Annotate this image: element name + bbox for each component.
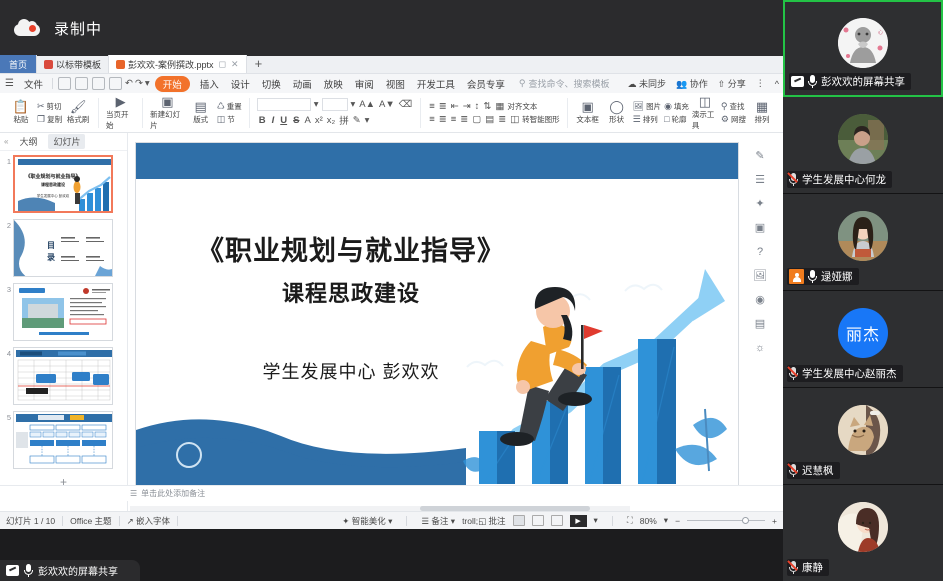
tab-screen-icon[interactable]: ◻ — [219, 59, 226, 70]
export-image-icon[interactable]: 🖼 — [754, 269, 767, 282]
comments-button[interactable]: troll;◱ 批注 — [462, 515, 505, 527]
slide-3-art — [14, 284, 113, 341]
cut-button[interactable]: ✂剪切 — [37, 101, 62, 112]
collaborate-label: 协作 — [690, 79, 708, 89]
mic-on-icon[interactable] — [24, 564, 33, 577]
increase-font-size-icon[interactable]: A▲ — [358, 99, 376, 110]
format-painter-button[interactable]: 🖌 格式刷 — [65, 100, 91, 125]
mic-muted-icon[interactable] — [789, 561, 798, 574]
divider — [612, 516, 613, 526]
slide-preview: 《职业规划与就业指导》 课程思政建设 学生发展中心 彭欢欢 — [13, 155, 113, 213]
font-embed-button[interactable]: ↗ 嵌入字体 — [127, 515, 171, 527]
participant-name: 学生发展中心赵丽杰 — [802, 366, 897, 381]
editor-work-area: « 大纲 幻灯片 1 《职业规划与就业指导》 课程思政建设 — [0, 133, 783, 529]
distribute-icon[interactable]: ▢ — [471, 114, 482, 125]
divider — [177, 516, 178, 526]
collaborate-button[interactable]: 👥 协作 — [676, 77, 708, 90]
ribbon-right-actions: ☁ 未同步 👥 协作 ⇧ 分享 ⋮ ^ — [627, 77, 779, 90]
illustration-cat-avatar — [838, 405, 888, 455]
illustration-woman-reading-avatar — [838, 211, 888, 261]
web-search-button[interactable]: ⚙网搜 — [721, 114, 746, 125]
beautify-icon[interactable]: ✦ — [754, 197, 767, 210]
ribbon-group-slides: ▣ 新建幻灯片 ▤ 版式 ♺重置 ◫节 — [146, 93, 246, 132]
screen-share-icon — [791, 76, 804, 87]
smartart-icon[interactable]: ◫ — [509, 114, 520, 125]
ribbon-tab-start[interactable]: 开始 — [155, 76, 190, 92]
notes-button[interactable]: ☰ 备注 ▾ — [421, 515, 455, 527]
cloud-service-icon[interactable]: ◉ — [754, 293, 767, 306]
undo-icon[interactable]: ↶ — [124, 78, 134, 89]
picture-button[interactable]: 🖼图片 — [633, 101, 661, 112]
format-painter-label: 格式刷 — [67, 114, 90, 125]
zoom-slider[interactable] — [687, 520, 765, 521]
align-text-icon[interactable]: ▦ — [494, 101, 505, 112]
align-label: 排列 — [643, 114, 658, 125]
notes-bar[interactable]: ☰ 单击此处添加备注 — [0, 485, 783, 501]
slide-preview: 目 录 — [13, 219, 113, 277]
copy-label: 复制 — [47, 114, 62, 125]
outline-button[interactable]: □轮廓 — [664, 114, 689, 125]
slide-canvas[interactable]: 《职业规划与就业指导》 课程思政建设 学生发展中心 彭欢欢 — [128, 133, 783, 529]
textbox-label: 文本框 — [576, 114, 599, 125]
tab-close-icon[interactable]: ✕ — [231, 59, 239, 70]
avatar — [838, 502, 888, 552]
slide-header-band — [136, 143, 738, 179]
textbox-icon: ▣ — [581, 100, 593, 113]
collapse-panel-icon[interactable]: « — [4, 137, 8, 146]
meeting-top-bar: 录制中 — [0, 0, 783, 56]
fill-label: 填充 — [674, 101, 689, 112]
slide-thumbnail-panel: « 大纲 幻灯片 1 《职业规划与就业指导》 课程思政建设 — [0, 133, 128, 529]
format-pane-icon[interactable]: ☰ — [754, 173, 767, 186]
theme-label[interactable]: Office 主题 — [70, 515, 111, 527]
font-family-select[interactable] — [257, 98, 311, 111]
ribbon-group-slideshow: ▶ 当页开始 — [102, 93, 139, 132]
svg-text:目: 目 — [47, 241, 55, 250]
slide-thumbnail-2[interactable]: 2 目 录 — [0, 219, 123, 277]
comments-label: 批注 — [489, 516, 506, 526]
feedback-icon[interactable]: ☼ — [754, 341, 767, 354]
sync-status-button[interactable]: ☁ 未同步 — [627, 77, 666, 90]
subscript-icon[interactable]: x₂ — [326, 115, 336, 126]
participant-name-bar: 逯娅娜 — [787, 268, 859, 285]
ribbon-group-clipboard: 📋 粘贴 ✂剪切 ❐复制 🖌 格式刷 — [4, 93, 95, 132]
wps-presentation-window: 首页 以标带模板 彭欢欢-案例撰改.pptx ◻ ✕ + ☰ 文件 ↶ — [0, 56, 783, 529]
arrange-label: 排列 — [755, 114, 770, 125]
tab-active-presentation[interactable]: 彭欢欢-案例撰改.pptx ◻ ✕ — [109, 55, 247, 73]
find-label: 查找 — [730, 101, 745, 112]
avatar — [838, 114, 888, 164]
right-tool-rail: ✎ ☰ ✦ ▣ ? 🖼 ◉ ▤ ☼ — [749, 133, 771, 478]
divider — [406, 516, 407, 526]
underline-button[interactable]: U — [278, 115, 289, 126]
justify-icon[interactable]: ≣ — [459, 114, 469, 125]
document-tab-strip: 首页 以标带模板 彭欢欢-案例撰改.pptx ◻ ✕ + — [0, 56, 783, 74]
ribbon-group-font: ▾ ▾ A▲ A▼ ⌫ B I U S A x² x₂ — [253, 93, 418, 132]
align-right-icon[interactable]: ≡ — [450, 114, 458, 125]
participant-tile-5[interactable]: 迟慧枫 — [783, 388, 943, 485]
ribbon-tab-developer[interactable]: 开发工具 — [411, 77, 461, 91]
participant-tile-6[interactable]: 康静 — [783, 485, 943, 581]
design-ideas-icon[interactable]: ✎ — [754, 149, 767, 162]
divider — [52, 78, 53, 89]
web-search-label: 网搜 — [731, 114, 746, 125]
slide-panel-header: « 大纲 幻灯片 — [0, 133, 127, 151]
help-icon[interactable]: ? — [754, 245, 767, 258]
play-circle-icon: ▶ — [116, 95, 126, 108]
present-tool-icon: ◫ — [699, 95, 711, 108]
paste-label: 粘贴 — [14, 114, 29, 125]
copy-icon: ❐ — [37, 114, 45, 125]
mic-on-icon[interactable] — [808, 75, 817, 88]
mic-on-icon[interactable] — [808, 270, 817, 283]
participant-tile-sharing[interactable]: 心 彭欢欢的屏幕共享 — [783, 0, 943, 97]
textbox-button[interactable]: ▣ 文本框 — [575, 100, 601, 125]
save-as-icon[interactable] — [75, 77, 88, 90]
picture-label: 图片 — [646, 101, 661, 112]
search-placeholder-label: 查找命令、搜索模板 — [528, 77, 609, 90]
zoom-level-label[interactable]: 80% — [640, 516, 657, 526]
shape-button[interactable]: ◯ 形状 — [604, 100, 630, 125]
text-direction-icon[interactable]: ⇅ — [482, 101, 492, 112]
zoom-in-button[interactable]: + — [772, 516, 777, 526]
participant-name: 迟慧枫 — [802, 463, 834, 478]
bold-button[interactable]: B — [257, 115, 268, 126]
divider — [98, 98, 99, 128]
start-from-current-label: 当页开始 — [106, 109, 135, 131]
illustration-woman-avatar — [838, 502, 888, 552]
text-highlight-icon[interactable]: ✎ — [352, 115, 362, 126]
ribbon-group-paragraph: ≡ ≣ ⇤ ⇥ ↕ ⇅ ▦ 对齐文本 ≡ ≣ ≡ ≣ ▢ — [424, 93, 563, 132]
ribbon-tab-design[interactable]: 设计 — [225, 77, 256, 91]
shape-label: 形状 — [609, 114, 624, 125]
tab-active-label: 彭欢欢-案例撰改.pptx — [128, 58, 214, 71]
ribbon-tab-view[interactable]: 视图 — [380, 77, 411, 91]
svg-text:录: 录 — [47, 253, 55, 262]
tab-slides[interactable]: 幻灯片 — [48, 134, 85, 149]
fill-icon: ◉ — [664, 101, 672, 112]
host-icon — [789, 269, 804, 284]
arrange-button[interactable]: ▦ 排列 — [749, 100, 775, 125]
share-label: 分享 — [728, 79, 746, 89]
slide-thumbnail-3[interactable]: 3 — [0, 283, 123, 341]
notes-label: 备注 — [431, 516, 448, 526]
font-embed-label: 嵌入字体 — [136, 516, 170, 526]
view-slide-sorter-button[interactable] — [532, 515, 544, 526]
cut-label: 剪切 — [47, 101, 62, 112]
sync-status-label: 未同步 — [639, 79, 666, 89]
ribbon-tab-review[interactable]: 审阅 — [349, 77, 380, 91]
new-slide-icon: ▣ — [161, 95, 173, 108]
quick-access-chevron-icon[interactable]: ▾ — [144, 78, 151, 89]
format-painter-icon: 🖌 — [70, 100, 87, 113]
fit-slide-button[interactable]: ⛶ — [627, 515, 633, 526]
divider — [420, 98, 421, 128]
paste-icon: 📋 — [13, 100, 29, 113]
present-tool-label: 演示工具 — [692, 109, 718, 131]
slide-number: 5 — [0, 411, 11, 422]
wps-doc-icon — [44, 60, 53, 69]
view-normal-button[interactable] — [513, 515, 525, 526]
font-size-chevron-icon[interactable]: ▾ — [350, 99, 357, 110]
slide-number: 1 — [0, 155, 11, 166]
screen-share-icon — [6, 565, 19, 576]
outline-icon: □ — [664, 114, 669, 124]
tab-template-label: 以标带模板 — [56, 58, 101, 71]
ribbon-tab-transition[interactable]: 切换 — [256, 77, 287, 91]
picture-icon: 🖼 — [633, 101, 644, 112]
fill-button[interactable]: ◉填充 — [664, 101, 689, 112]
status-bar: 幻灯片 1 / 10 Office 主题 ↗ 嵌入字体 ✦ 智能美化 ▾ ☰ 备… — [0, 511, 783, 529]
compare-icon[interactable]: ▤ — [754, 317, 767, 330]
align-button[interactable]: ☰排列 — [633, 114, 661, 125]
divider — [142, 98, 143, 128]
ribbon-tab-member[interactable]: 会员专享 — [461, 77, 511, 91]
ribbon-tab-insert[interactable]: 插入 — [194, 77, 225, 91]
share-pill-label: 彭欢欢的屏幕共享 — [38, 563, 118, 578]
text-shadow-icon[interactable]: A — [303, 115, 311, 126]
more-options-icon[interactable]: ⋮ — [756, 78, 765, 89]
ribbon-group-insert: ▣ 文本框 ◯ 形状 🖼图片 ☰排列 ◉填充 □轮廓 ◫ 演示工具 — [571, 93, 779, 132]
list-level-icon[interactable]: ≣ — [497, 114, 507, 125]
slide-2-art: 目 录 — [14, 220, 113, 277]
font-color-icon[interactable]: ▾ — [364, 115, 371, 126]
circle-decoration — [176, 442, 202, 468]
initials-avatar: 丽杰 — [838, 308, 888, 358]
clear-format-icon[interactable]: ⌫ — [398, 99, 413, 110]
section-button[interactable]: ◫节 — [217, 114, 242, 125]
divider — [567, 98, 568, 128]
divider — [249, 98, 250, 128]
slideshow-options-chevron-icon[interactable]: ▾ — [594, 515, 598, 526]
mic-muted-icon[interactable] — [789, 367, 798, 380]
illustration-woman-climbing-bars — [457, 249, 732, 484]
start-slideshow-button[interactable]: ▶ — [570, 515, 587, 527]
tab-outline[interactable]: 大纲 — [14, 134, 42, 149]
participant-name-bar: 康静 — [787, 559, 829, 576]
status-bar-right: ✦ 智能美化 ▾ ☰ 备注 ▾ troll;◱ 批注 ▶ ▾ ⛶ 80% ▾ −… — [342, 515, 777, 527]
slide-preview — [13, 283, 113, 341]
print-icon[interactable] — [92, 77, 105, 90]
notes-icon: ☰ — [130, 489, 137, 498]
slide-counter-label: 幻灯片 1 / 10 — [6, 515, 55, 527]
view-reading-button[interactable] — [551, 515, 563, 526]
ribbon-tab-slideshow[interactable]: 放映 — [318, 77, 349, 91]
convert-smartart-label[interactable]: 转智能图形 — [522, 114, 560, 125]
svg-text:课程思政建设: 课程思政建设 — [41, 181, 65, 187]
layout-icon: ▤ — [195, 100, 207, 113]
svg-text:心: 心 — [878, 29, 883, 36]
avatar — [838, 405, 888, 455]
zoom-slider-knob[interactable] — [742, 517, 749, 524]
increase-indent-icon[interactable]: ⇥ — [462, 101, 472, 112]
slide-preview — [13, 347, 113, 405]
participant-name-bar: 学生发展中心何龙 — [787, 171, 892, 188]
decrease-font-size-icon[interactable]: A▼ — [378, 99, 396, 110]
participant-name: 逯娅娜 — [821, 269, 853, 284]
media-icon[interactable]: ▣ — [754, 221, 767, 234]
tab-home-label: 首页 — [9, 58, 27, 71]
ribbon-tab-file[interactable]: 文件 — [18, 77, 49, 91]
print-preview-icon[interactable] — [109, 77, 122, 90]
layout-button[interactable]: ▤ 版式 — [188, 100, 214, 125]
divider — [62, 516, 63, 526]
zoom-out-button[interactable]: − — [675, 516, 680, 526]
layout-label: 版式 — [193, 114, 208, 125]
cartoon-person-avatar: 心 — [838, 18, 888, 68]
avatar: 心 — [838, 18, 888, 68]
section-label: 节 — [227, 114, 235, 125]
participant-name-bar: 彭欢欢的屏幕共享 — [789, 73, 911, 90]
save-icon[interactable] — [58, 77, 71, 90]
find-button[interactable]: ⚲查找 — [721, 101, 746, 112]
section-icon: ◫ — [217, 114, 226, 125]
superscript-icon[interactable]: x² — [314, 115, 324, 126]
reset-label: 重置 — [227, 101, 242, 112]
ribbon-tab-row: ☰ 文件 ↶ ↷ ▾ 开始 插入 设计 切换 动画 放映 审阅 视图 开发工具 … — [0, 74, 783, 93]
slide-thumbnail-5[interactable]: 5 — [0, 411, 123, 469]
participant-name-bar: 迟慧枫 — [787, 462, 840, 479]
tab-template-doc[interactable]: 以标带模板 — [37, 55, 109, 73]
wave-decoration — [136, 396, 466, 486]
tab-home[interactable]: 首页 — [0, 55, 37, 73]
avatar: 丽杰 — [838, 308, 888, 358]
ribbon-tab-animation[interactable]: 动画 — [287, 77, 318, 91]
svg-text:学生发展中心 彭欢欢: 学生发展中心 彭欢欢 — [37, 193, 70, 198]
svg-text:《职业规划与就业指导》: 《职业规划与就业指导》 — [25, 173, 80, 180]
notes-placeholder-label: 单击此处添加备注 — [141, 488, 205, 499]
cloud-record-icon — [14, 19, 42, 37]
slide-4-art — [14, 348, 113, 405]
slide-number: 3 — [0, 283, 11, 294]
bullet-list-icon[interactable]: ≡ — [428, 101, 436, 112]
new-tab-button[interactable]: + — [247, 55, 271, 73]
phonetic-guide-icon[interactable]: 拼 — [338, 113, 350, 127]
reset-icon: ♺ — [217, 101, 225, 112]
menu-hamburger-icon[interactable]: ☰ — [0, 78, 18, 89]
slide-thumbnail-1[interactable]: 1 《职业规划与就业指导》 课程思政建设 学生发展中心 彭欢欢 — [0, 155, 123, 213]
participant-tile-2[interactable]: 学生发展中心何龙 — [783, 97, 943, 194]
divider — [119, 516, 120, 526]
slide-thumbnail-list[interactable]: 1 《职业规划与就业指导》 课程思政建设 学生发展中心 彭欢欢 — [0, 151, 127, 529]
beautify-label: 智能美化 — [352, 516, 386, 526]
slide-1-art: 《职业规划与就业指导》 课程思政建设 学生发展中心 彭欢欢 — [15, 157, 113, 213]
align-icon: ☰ — [633, 114, 641, 125]
avatar — [838, 211, 888, 261]
current-slide[interactable]: 《职业规划与就业指导》 课程思政建设 学生发展中心 彭欢欢 — [135, 142, 739, 487]
slide-thumbnail-4[interactable]: 4 — [0, 347, 123, 405]
ribbon-toolbar: 📋 粘贴 ✂剪切 ❐复制 🖌 格式刷 ▶ 当页开始 — [0, 93, 783, 133]
reset-button[interactable]: ♺重置 — [217, 101, 242, 112]
font-family-chevron-icon[interactable]: ▾ — [313, 99, 320, 110]
align-text-label: 对齐文本 — [507, 101, 537, 112]
italic-button[interactable]: I — [270, 115, 277, 126]
slide-number: 4 — [0, 347, 11, 358]
mic-muted-icon[interactable] — [789, 464, 798, 477]
zoom-chevron-icon[interactable]: ▾ — [664, 515, 668, 526]
scissors-icon: ✂ — [37, 101, 45, 112]
numbered-list-icon[interactable]: ≣ — [438, 101, 448, 112]
decrease-indent-icon[interactable]: ⇤ — [450, 101, 460, 112]
paste-button[interactable]: 📋 粘贴 — [8, 100, 34, 125]
participant-tile-3[interactable]: 逯娅娜 — [783, 194, 943, 291]
mic-muted-icon[interactable] — [789, 173, 798, 186]
start-from-current-button[interactable]: ▶ 当页开始 — [106, 95, 135, 131]
columns-icon[interactable]: ▤ — [484, 114, 495, 125]
strikethrough-button[interactable]: S — [291, 115, 301, 126]
wps-ppt-icon — [116, 60, 125, 69]
arrange-icon: ▦ — [756, 100, 768, 113]
slide-5-art — [14, 412, 113, 469]
copy-button[interactable]: ❐复制 — [37, 114, 62, 125]
align-left-icon[interactable]: ≡ — [428, 114, 436, 125]
participant-panel: 心 彭欢欢的屏幕共享 — [783, 0, 943, 581]
align-center-icon[interactable]: ≣ — [438, 114, 448, 125]
slide-number: 2 — [0, 219, 11, 230]
new-slide-label: 新建幻灯片 — [150, 109, 185, 131]
participant-tile-4[interactable]: 丽杰 学生发展中心赵丽杰 — [783, 291, 943, 388]
shape-icon: ◯ — [609, 100, 624, 113]
search-icon: ⚲ — [721, 101, 728, 112]
participant-name-bar: 学生发展中心赵丽杰 — [787, 365, 903, 382]
screen-share-status-pill[interactable]: 彭欢欢的屏幕共享 — [0, 560, 140, 581]
recording-status-label: 录制中 — [54, 18, 102, 39]
redo-icon[interactable]: ↷ — [134, 78, 144, 89]
participant-name: 学生发展中心何龙 — [802, 172, 886, 187]
line-spacing-icon[interactable]: ↕ — [474, 101, 481, 112]
search-icon: ⚲ — [519, 78, 526, 89]
share-button[interactable]: ⇧ 分享 — [718, 77, 746, 90]
collapse-ribbon-icon[interactable]: ^ — [775, 79, 779, 89]
new-slide-button[interactable]: ▣ 新建幻灯片 — [150, 95, 185, 131]
participant-name: 康静 — [802, 560, 823, 575]
present-tool-button[interactable]: ◫ 演示工具 — [692, 95, 718, 131]
outline-label: 轮廓 — [672, 114, 687, 125]
slide-preview — [13, 411, 113, 469]
command-search-box[interactable]: ⚲ 查找命令、搜索模板 — [519, 77, 610, 90]
beautify-button[interactable]: ✦ 智能美化 ▾ — [342, 515, 392, 527]
web-search-icon: ⚙ — [721, 114, 729, 125]
participant-name: 彭欢欢的屏幕共享 — [821, 74, 905, 89]
font-size-select[interactable] — [322, 98, 348, 111]
photo-man-avatar — [838, 114, 888, 164]
